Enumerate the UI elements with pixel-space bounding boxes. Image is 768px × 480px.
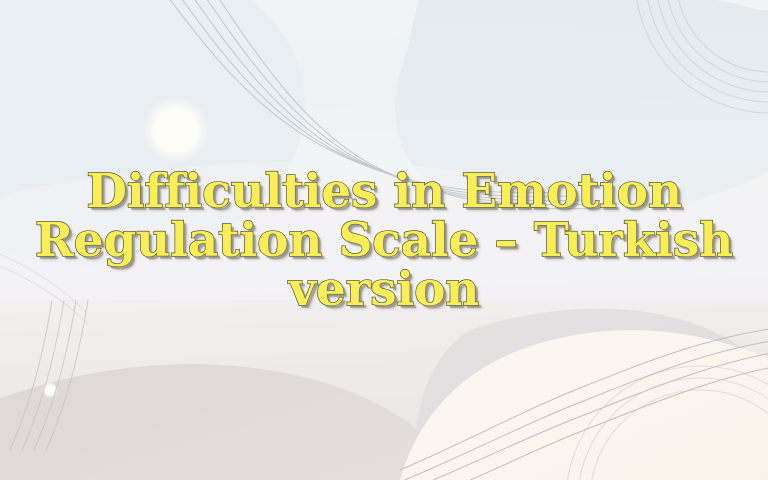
page-title: Difficulties in Emotion Regulation Scale… — [34, 167, 734, 314]
poster-canvas: Difficulties in Emotion Regulation Scale… — [0, 0, 768, 480]
title-block: Difficulties in Emotion Regulation Scale… — [0, 0, 768, 480]
